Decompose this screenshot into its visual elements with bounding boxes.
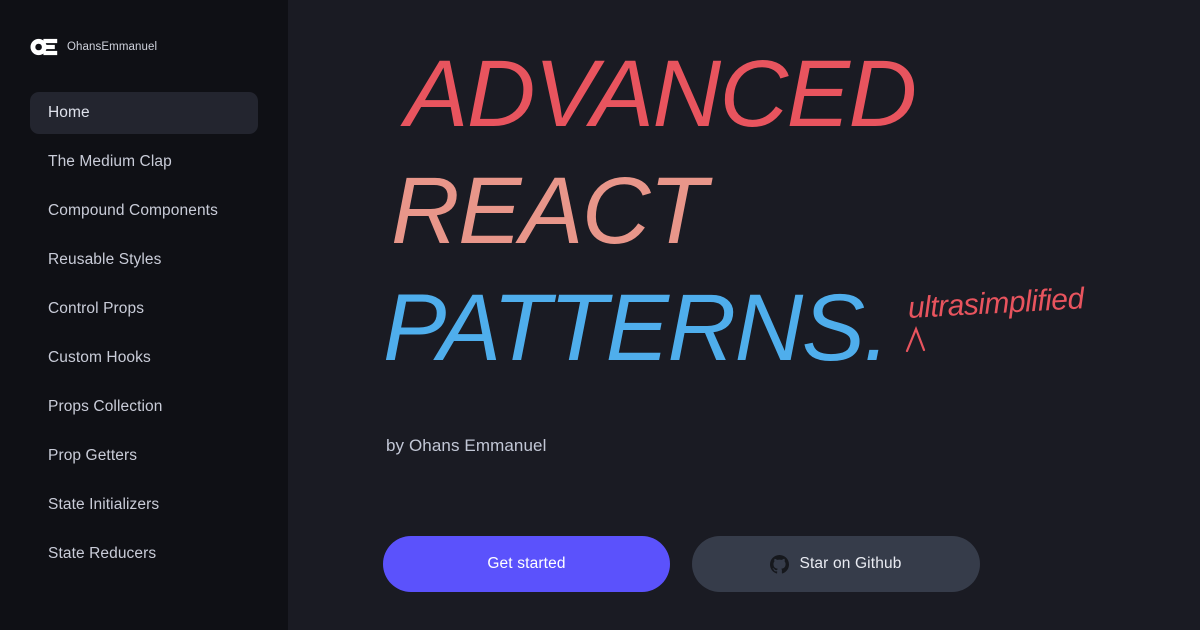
sidebar-item-control-props[interactable]: Control Props [30, 288, 258, 330]
sidebar-item-label: Compound Components [48, 202, 218, 220]
headline-line-advanced: ADVANCED [383, 48, 1200, 141]
sidebar-item-state-reducers[interactable]: State Reducers [30, 533, 258, 575]
brand-name: OhansEmmanuel [67, 41, 157, 53]
star-on-github-button[interactable]: Star on Github [692, 536, 980, 592]
star-on-github-label: Star on Github [799, 555, 901, 573]
byline: by Ohans Emmanuel [386, 436, 546, 456]
sidebar-item-home[interactable]: Home [30, 92, 258, 134]
oe-monogram-icon [30, 38, 58, 56]
sidebar-item-label: Home [48, 104, 90, 122]
sidebar-item-props-collection[interactable]: Props Collection [30, 386, 258, 428]
caret-insertion-mark-icon [905, 326, 929, 352]
sidebar: OhansEmmanuel Home The Medium Clap Compo… [0, 0, 288, 630]
sidebar-item-label: Prop Getters [48, 447, 137, 465]
sidebar-item-prop-getters[interactable]: Prop Getters [30, 435, 258, 477]
get-started-label: Get started [487, 555, 565, 573]
main-content: ADVANCED REACT PATTERNS. ultrasimplified… [288, 0, 1200, 630]
sidebar-item-compound-components[interactable]: Compound Components [30, 190, 258, 232]
sidebar-item-reusable-styles[interactable]: Reusable Styles [30, 239, 258, 281]
sidebar-item-label: State Initializers [48, 496, 159, 514]
headline-line-react: REACT [383, 165, 1200, 258]
get-started-button[interactable]: Get started [383, 536, 670, 592]
sidebar-item-state-initializers[interactable]: State Initializers [30, 484, 258, 526]
sidebar-item-label: The Medium Clap [48, 153, 172, 171]
sidebar-item-custom-hooks[interactable]: Custom Hooks [30, 337, 258, 379]
sidebar-item-label: Custom Hooks [48, 349, 151, 367]
sidebar-item-the-medium-clap[interactable]: The Medium Clap [30, 141, 258, 183]
sidebar-item-label: Props Collection [48, 398, 162, 416]
sidebar-item-label: Reusable Styles [48, 251, 162, 269]
brand-logo[interactable]: OhansEmmanuel [0, 30, 288, 64]
sidebar-nav: Home The Medium Clap Compound Components… [0, 92, 288, 582]
hero-section: ADVANCED REACT PATTERNS. ultrasimplified… [383, 0, 1200, 630]
page-title: ADVANCED REACT PATTERNS. [383, 0, 1200, 375]
github-icon [770, 555, 789, 574]
cta-row: Get started Star on Github [383, 536, 980, 592]
sidebar-item-label: Control Props [48, 300, 144, 318]
sidebar-item-label: State Reducers [48, 545, 156, 563]
